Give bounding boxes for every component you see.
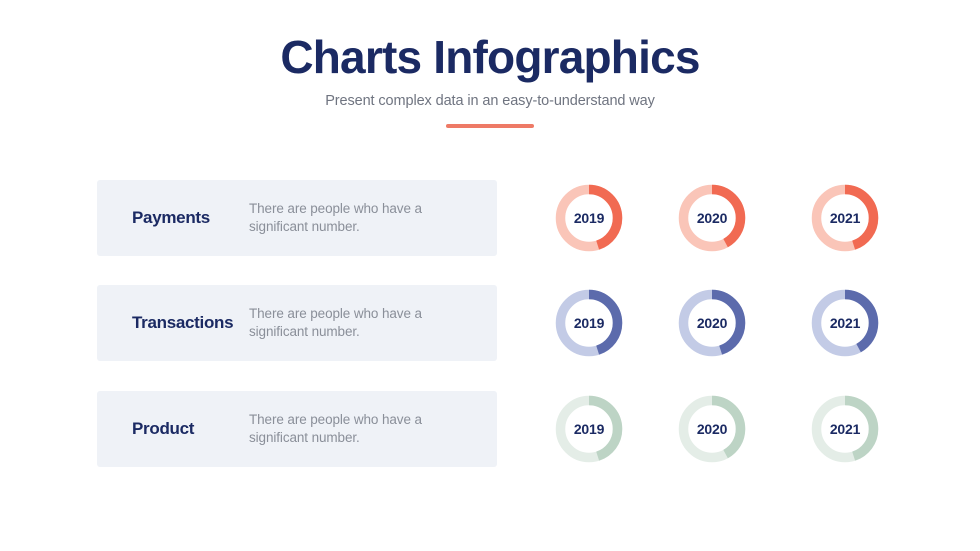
row-label-transactions: Transactions	[97, 313, 249, 333]
donut-group-payments: 2019 2020 2021	[532, 159, 932, 277]
infographic-body: Payments There are people who have a sig…	[0, 168, 980, 498]
donut-chart-transactions-2019[interactable]: 2019	[554, 288, 624, 358]
row-label-product: Product	[97, 419, 249, 439]
donut-chart-payments-2021[interactable]: 2021	[810, 183, 880, 253]
row-band: Payments There are people who have a sig…	[97, 180, 497, 256]
page-subtitle: Present complex data in an easy-to-under…	[0, 93, 980, 109]
donut-year-label: 2020	[677, 394, 747, 464]
row-band: Product There are people who have a sign…	[97, 391, 497, 467]
donut-chart-product-2019[interactable]: 2019	[554, 394, 624, 464]
infographic-row-payments: Payments There are people who have a sig…	[0, 180, 980, 256]
donut-group-transactions: 2019 2020 2021	[532, 264, 932, 382]
donut-group-product: 2019 2020 2021	[532, 370, 932, 488]
donut-year-label: 2021	[810, 183, 880, 253]
donut-year-label: 2019	[554, 288, 624, 358]
donut-chart-transactions-2021[interactable]: 2021	[810, 288, 880, 358]
donut-year-label: 2021	[810, 288, 880, 358]
page-header: Charts Infographics Present complex data…	[0, 0, 980, 128]
infographic-row-transactions: Transactions There are people who have a…	[0, 285, 980, 361]
infographic-row-product: Product There are people who have a sign…	[0, 391, 980, 467]
donut-chart-transactions-2020[interactable]: 2020	[677, 288, 747, 358]
donut-year-label: 2019	[554, 394, 624, 464]
page-title: Charts Infographics	[0, 33, 980, 81]
donut-chart-product-2021[interactable]: 2021	[810, 394, 880, 464]
donut-year-label: 2020	[677, 288, 747, 358]
row-description-transactions: There are people who have a significant …	[249, 305, 497, 341]
accent-divider	[446, 124, 534, 128]
row-label-payments: Payments	[97, 208, 249, 228]
donut-chart-payments-2019[interactable]: 2019	[554, 183, 624, 253]
donut-year-label: 2019	[554, 183, 624, 253]
row-band: Transactions There are people who have a…	[97, 285, 497, 361]
row-description-product: There are people who have a significant …	[249, 411, 497, 447]
row-description-payments: There are people who have a significant …	[249, 200, 497, 236]
donut-chart-product-2020[interactable]: 2020	[677, 394, 747, 464]
donut-chart-payments-2020[interactable]: 2020	[677, 183, 747, 253]
donut-year-label: 2020	[677, 183, 747, 253]
donut-year-label: 2021	[810, 394, 880, 464]
